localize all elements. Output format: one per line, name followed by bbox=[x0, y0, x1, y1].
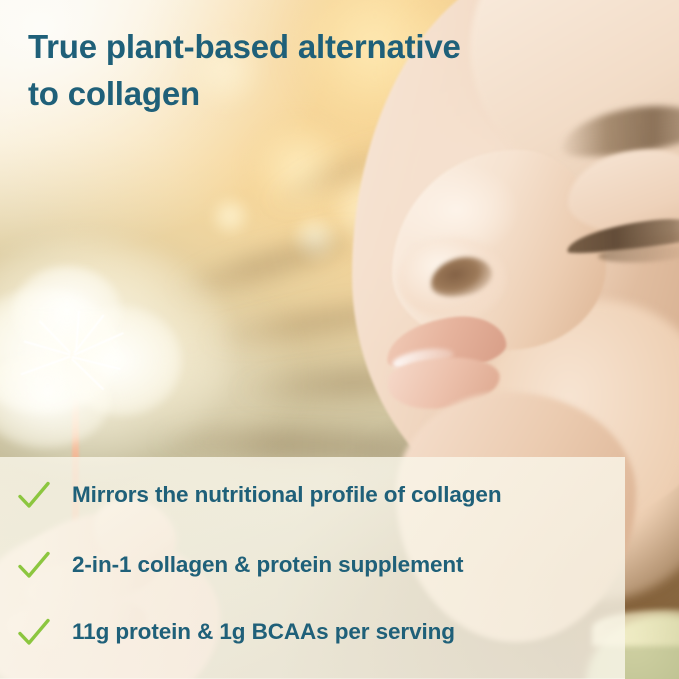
headline-line-1: True plant-based alternative bbox=[28, 24, 568, 71]
bokeh-disc bbox=[210, 196, 250, 236]
check-icon bbox=[16, 614, 52, 650]
check-icon bbox=[16, 477, 52, 513]
list-item: 2-in-1 collagen & protein supplement bbox=[16, 547, 463, 583]
page-title: True plant-based alternative to collagen bbox=[28, 24, 568, 118]
check-icon bbox=[16, 547, 52, 583]
product-lifestyle-ad: True plant-based alternative to collagen… bbox=[0, 0, 679, 679]
headline-line-2: to collagen bbox=[28, 71, 568, 118]
list-item-label: 2-in-1 collagen & protein supplement bbox=[72, 552, 463, 578]
list-item-label: 11g protein & 1g BCAAs per serving bbox=[72, 619, 455, 645]
list-item: 11g protein & 1g BCAAs per serving bbox=[16, 614, 455, 650]
list-item-label: Mirrors the nutritional profile of colla… bbox=[72, 482, 501, 508]
dandelion-seedhead bbox=[12, 266, 122, 358]
benefits-list: Mirrors the nutritional profile of colla… bbox=[0, 457, 625, 679]
list-item: Mirrors the nutritional profile of colla… bbox=[16, 477, 501, 513]
